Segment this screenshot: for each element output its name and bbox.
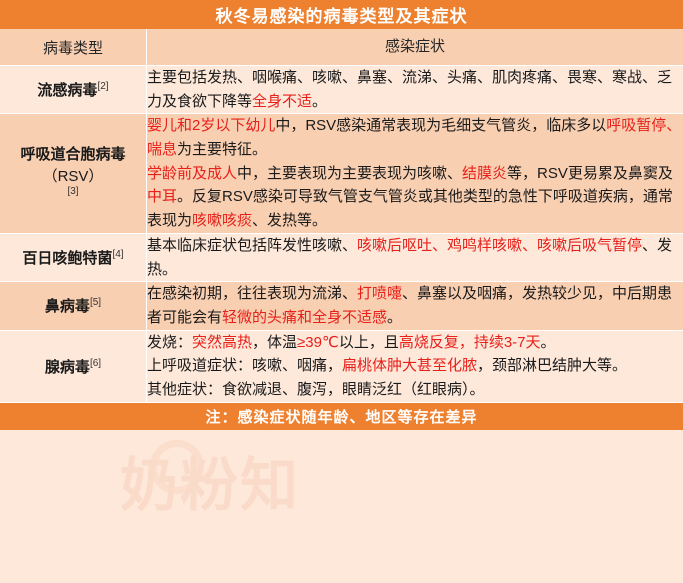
symptom-highlight: 打喷嚏 (357, 285, 402, 302)
virus-type-label: 腺病毒 (45, 359, 90, 376)
symptom-highlight: 轻微的头痛和全身不适感 (222, 309, 387, 326)
symptom-text: 、发热等。 (252, 212, 327, 229)
symptom-highlight: ≥39℃ (297, 334, 339, 351)
symptom-text: 主要包括发热、咽喉痛、咳嗽、鼻塞、流涕、头痛、肌肉疼痛、畏寒、寒战、乏力及食欲下… (147, 69, 672, 110)
symptom-text: 在感染初期，往往表现为流涕、 (147, 285, 357, 302)
infographic-root: 奶粉知 奶粉知 奶粉知 奶粉知 秋冬易感染的病毒类型及其症状 病毒类型 感染症状… (0, 0, 683, 583)
symptom-highlight: 全身不适 (252, 93, 312, 110)
symptom-highlight: 突然高热 (192, 334, 252, 351)
virus-type-cell: 鼻病毒[5] (0, 282, 147, 330)
footer-note: 注：感染症状随年龄、地区等存在差异 (0, 403, 683, 430)
virus-type-cell: 呼吸道合胞病毒（RSV）[3] (0, 114, 147, 233)
symptom-text: 中，主要表现为主要表现为咳嗽、 (237, 165, 462, 182)
symptoms-cell: 婴儿和2岁以下幼儿中，RSV感染通常表现为毛细支气管炎，临床多以呼吸暂停、喘息为… (147, 114, 683, 233)
table-row: 百日咳鲍特菌[4]基本临床症状包括阵发性咳嗽、咳嗽后呕吐、鸡鸣样咳嗽、咳嗽后吸气… (0, 233, 683, 281)
symptom-text: ，体温 (252, 334, 297, 351)
page-title: 秋冬易感染的病毒类型及其症状 (0, 0, 683, 29)
reference-marker: [3] (67, 186, 78, 197)
symptom-text: 中，RSV感染通常表现为毛细支气管炎，临床多以 (275, 117, 606, 134)
table-row: 呼吸道合胞病毒（RSV）[3]婴儿和2岁以下幼儿中，RSV感染通常表现为毛细支气… (0, 114, 683, 233)
symptoms-cell: 基本临床症状包括阵发性咳嗽、咳嗽后呕吐、鸡鸣样咳嗽、咳嗽后吸气暂停、发热。 (147, 233, 683, 281)
symptom-text: ，颈部淋巴结肿大等。 (477, 357, 627, 374)
column-header-symptoms: 感染症状 (147, 29, 683, 66)
reference-marker: [2] (97, 81, 108, 92)
virus-type-label: 鼻病毒 (45, 298, 90, 315)
symptom-text: 其他症状：食欲减退、腹泻，眼睛泛红（红眼病）。 (147, 381, 485, 398)
table-row: 流感病毒[2]主要包括发热、咽喉痛、咳嗽、鼻塞、流涕、头痛、肌肉疼痛、畏寒、寒战… (0, 66, 683, 114)
symptom-text: 。 (541, 334, 556, 351)
virus-type-cell: 百日咳鲍特菌[4] (0, 233, 147, 281)
column-header-virus-type: 病毒类型 (0, 29, 147, 66)
table-header-row: 病毒类型 感染症状 (0, 29, 683, 66)
symptom-highlight: 咳嗽后呕吐、鸡鸣样咳嗽、咳嗽后吸气暂停 (357, 237, 642, 254)
symptom-text: 。 (312, 93, 327, 110)
symptom-text: 发烧： (147, 334, 192, 351)
reference-marker: [4] (112, 249, 123, 260)
symptoms-cell: 发烧：突然高热，体温≥39℃以上，且高烧反复，持续3-7天。上呼吸道症状：咳嗽、… (147, 330, 683, 402)
symptom-text: 上呼吸道症状：咳嗽、咽痛， (147, 357, 342, 374)
symptom-text: 以上，且 (339, 334, 399, 351)
virus-type-cell: 流感病毒[2] (0, 66, 147, 114)
reference-marker: [5] (90, 297, 101, 308)
table-row: 鼻病毒[5]在感染初期，往往表现为流涕、打喷嚏、鼻塞以及咽痛，发热较少见，中后期… (0, 282, 683, 330)
symptoms-cell: 主要包括发热、咽喉痛、咳嗽、鼻塞、流涕、头痛、肌肉疼痛、畏寒、寒战、乏力及食欲下… (147, 66, 683, 114)
virus-type-label: 百日咳鲍特菌 (22, 250, 112, 267)
symptom-text: 。 (387, 309, 402, 326)
reference-marker: [6] (90, 358, 101, 369)
symptoms-cell: 在感染初期，往往表现为流涕、打喷嚏、鼻塞以及咽痛，发热较少见，中后期患者可能会有… (147, 282, 683, 330)
symptom-highlight: 咳嗽咳痰 (192, 212, 252, 229)
symptom-highlight: 中耳 (147, 188, 177, 205)
watermark-logo-mark (150, 440, 204, 494)
symptom-text: 等，RSV更易累及鼻窦及 (507, 165, 673, 182)
table-body: 病毒类型 感染症状 流感病毒[2]主要包括发热、咽喉痛、咳嗽、鼻塞、流涕、头痛、… (0, 29, 683, 402)
symptom-text: 为主要特征。 (177, 141, 267, 158)
virus-type-label: 流感病毒 (37, 82, 97, 99)
symptom-highlight: 婴儿和2岁以下幼儿 (147, 117, 275, 134)
symptom-highlight: 结膜炎 (462, 165, 507, 182)
virus-type-cell: 腺病毒[6] (0, 330, 147, 402)
symptom-text: 基本临床症状包括阵发性咳嗽、 (147, 237, 357, 254)
virus-symptom-table: 病毒类型 感染症状 流感病毒[2]主要包括发热、咽喉痛、咳嗽、鼻塞、流涕、头痛、… (0, 29, 683, 403)
virus-type-label: 呼吸道合胞病毒 (20, 146, 125, 163)
symptom-highlight: 高烧反复，持续3-7天 (399, 334, 541, 351)
table-row: 腺病毒[6]发烧：突然高热，体温≥39℃以上，且高烧反复，持续3-7天。上呼吸道… (0, 330, 683, 402)
symptom-highlight: 学龄前及成人 (147, 165, 237, 182)
watermark-text: 奶粉知 (120, 438, 300, 522)
symptom-highlight: 扁桃体肿大甚至化脓 (342, 357, 477, 374)
virus-type-abbrev: （RSV） (0, 165, 146, 186)
